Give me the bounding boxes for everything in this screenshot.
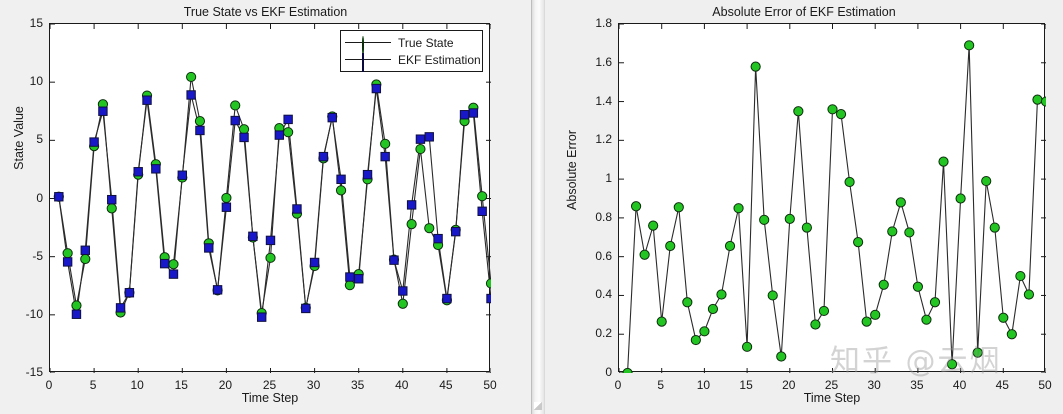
x-tick-label: 45 bbox=[426, 378, 466, 392]
x-tick-label: 20 bbox=[769, 378, 809, 392]
error-plot-canvas bbox=[619, 24, 1046, 373]
legend-item-ekf-estimation[interactable]: EKF Estimation bbox=[345, 51, 476, 68]
y-tick-label: 1.8 bbox=[558, 16, 612, 30]
legend-sample-true-state bbox=[345, 36, 391, 50]
state-plot-canvas bbox=[50, 24, 491, 373]
y-tick-label: -5 bbox=[0, 249, 43, 263]
left-figure-panel: True State vs EKF Estimation -15-10-5051… bbox=[0, 0, 531, 414]
x-tick-label: 50 bbox=[470, 378, 510, 392]
y-tick-label: -15 bbox=[0, 365, 43, 379]
x-tick-label: 30 bbox=[294, 378, 334, 392]
x-tick-label: 10 bbox=[683, 378, 723, 392]
x-tick-label: 25 bbox=[250, 378, 290, 392]
x-tick-label: 15 bbox=[161, 378, 201, 392]
legend-line-icon bbox=[345, 42, 391, 43]
x-tick-label: 20 bbox=[205, 378, 245, 392]
x-tick-label: 5 bbox=[73, 378, 113, 392]
y-tick-label: 1.6 bbox=[558, 55, 612, 69]
x-tick-label: 35 bbox=[897, 378, 937, 392]
right-x-axis-label: Time Step bbox=[752, 391, 912, 405]
y-tick-label: 0.2 bbox=[558, 326, 612, 340]
legend-sample-ekf-estimation bbox=[345, 53, 391, 67]
x-tick-label: 15 bbox=[726, 378, 766, 392]
legend-item-true-state[interactable]: True State bbox=[345, 34, 476, 51]
legend-label-ekf-estimation: EKF Estimation bbox=[398, 53, 481, 67]
x-tick-label: 30 bbox=[854, 378, 894, 392]
x-tick-label: 25 bbox=[812, 378, 852, 392]
resize-grip-icon[interactable] bbox=[534, 402, 542, 410]
matlab-figure-window: True State vs EKF Estimation -15-10-5051… bbox=[0, 0, 1063, 414]
legend-line-icon bbox=[345, 59, 391, 60]
y-tick-label: 15 bbox=[0, 16, 43, 30]
panel-splitter[interactable] bbox=[531, 0, 545, 414]
x-tick-label: 40 bbox=[382, 378, 422, 392]
left-y-axis-label: State Value bbox=[12, 78, 26, 198]
y-tick-label: 0 bbox=[558, 365, 612, 379]
y-tick-label: 0.4 bbox=[558, 287, 612, 301]
x-tick-label: 40 bbox=[940, 378, 980, 392]
error-plot-area bbox=[618, 23, 1045, 372]
x-tick-label: 0 bbox=[598, 378, 638, 392]
x-tick-label: 0 bbox=[29, 378, 69, 392]
watermark-text: 知乎 @云烟 bbox=[830, 336, 1002, 380]
y-tick-label: -10 bbox=[0, 307, 43, 321]
state-plot-area bbox=[49, 23, 490, 372]
x-tick-label: 45 bbox=[982, 378, 1022, 392]
legend-label-true-state: True State bbox=[398, 36, 454, 50]
right-y-axis-label: Absolute Error bbox=[565, 90, 579, 250]
right-chart-title: Absolute Error of EKF Estimation bbox=[545, 5, 1063, 19]
x-tick-label: 50 bbox=[1025, 378, 1063, 392]
square-marker-icon bbox=[362, 54, 364, 72]
x-tick-label: 5 bbox=[641, 378, 681, 392]
chart-legend[interactable]: True State EKF Estimation bbox=[340, 30, 483, 72]
left-x-axis-label: Time Step bbox=[190, 391, 350, 405]
x-tick-label: 35 bbox=[338, 378, 378, 392]
left-chart-title: True State vs EKF Estimation bbox=[0, 5, 531, 19]
x-tick-label: 10 bbox=[117, 378, 157, 392]
y-tick-label: 0.6 bbox=[558, 249, 612, 263]
